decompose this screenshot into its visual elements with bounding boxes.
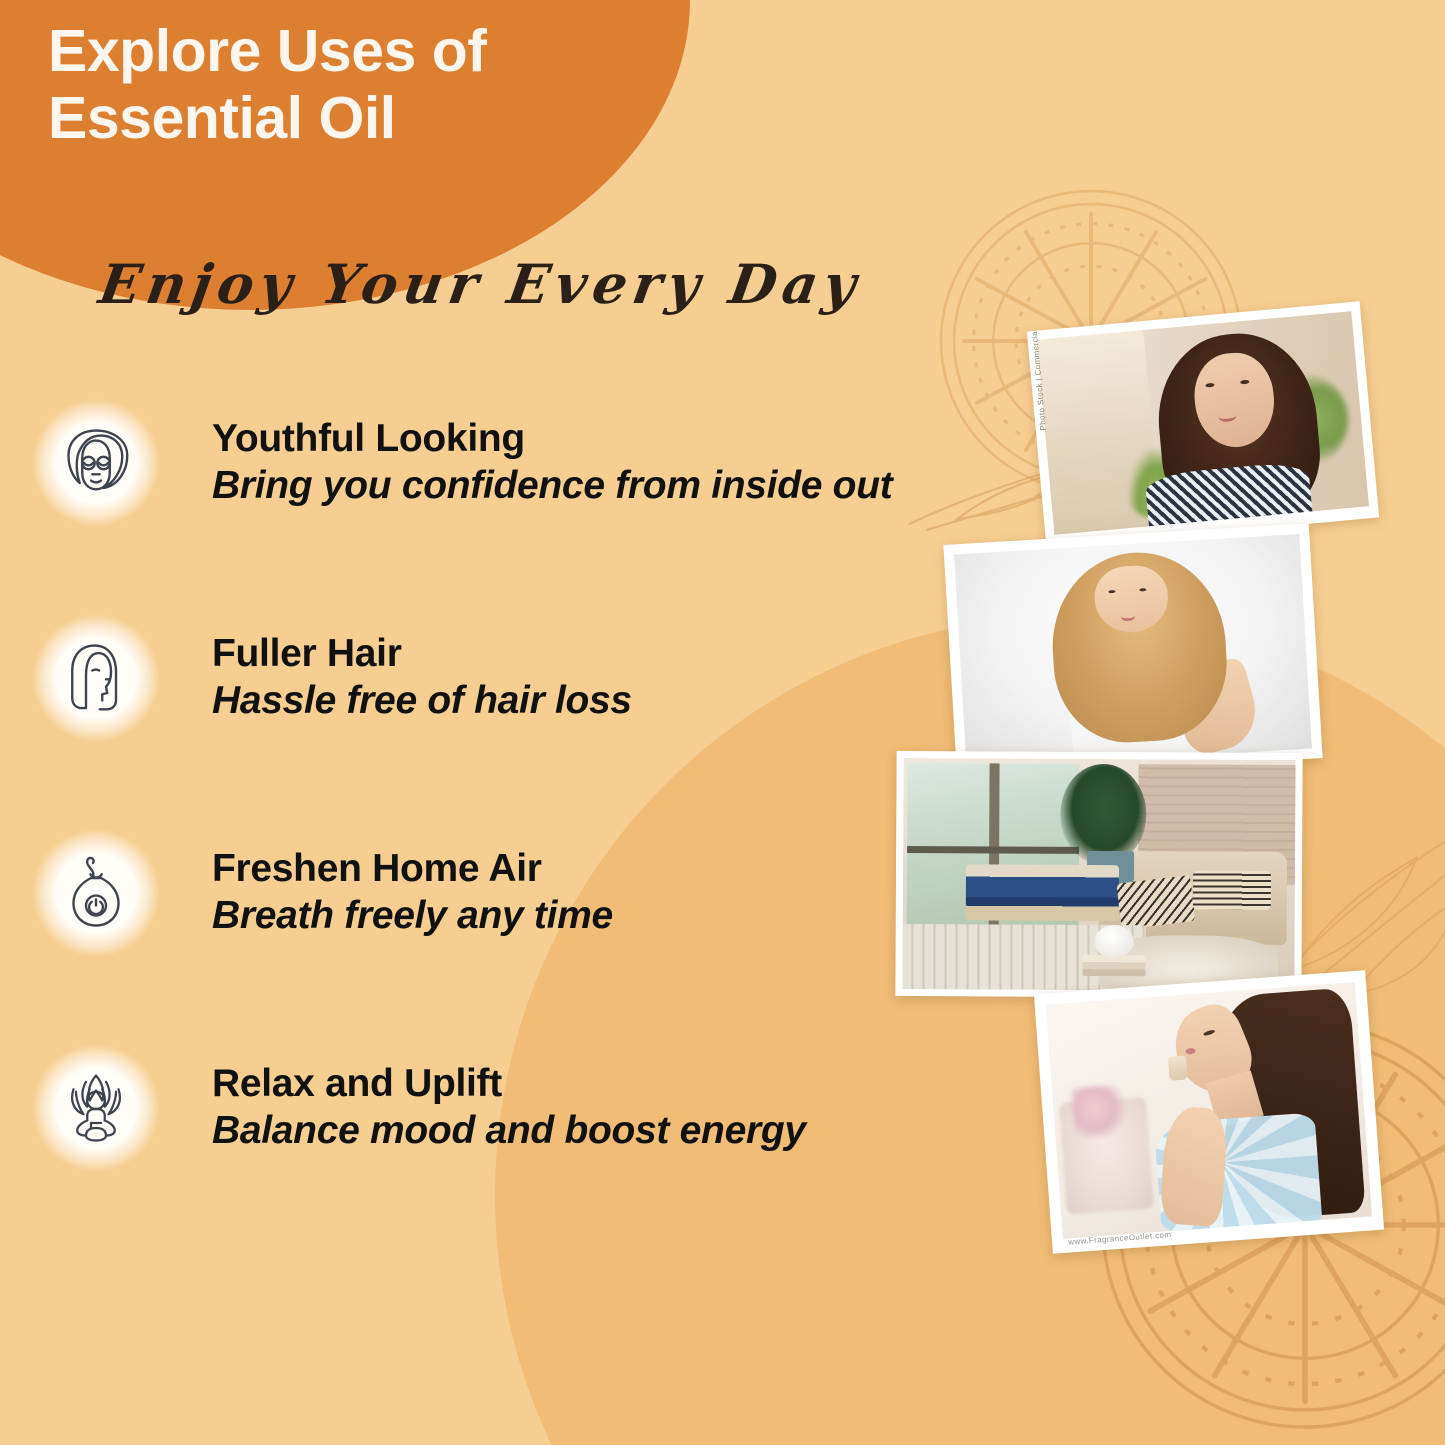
feature-row-freshen-home-air: Freshen Home Air Breath freely any time xyxy=(0,785,1040,1000)
scene-boho-living-room xyxy=(902,758,1295,991)
feature-row-youthful-looking: Youthful Looking Bring you confidence fr… xyxy=(0,355,1040,570)
feature-title: Freshen Home Air xyxy=(212,847,613,891)
scene-smiling-woman-indoors xyxy=(1037,311,1369,535)
feature-subtitle: Bring you confidence from inside out xyxy=(212,463,892,508)
page-title: Explore Uses of Essential Oil xyxy=(48,18,648,151)
feature-title: Youthful Looking xyxy=(212,417,892,461)
feature-title: Fuller Hair xyxy=(212,632,632,676)
feature-subtitle: Hassle free of hair loss xyxy=(212,678,632,723)
feature-text-fuller-hair: Fuller Hair Hassle free of hair loss xyxy=(212,632,632,723)
feature-text-relax-and-uplift: Relax and Uplift Balance mood and boost … xyxy=(212,1062,806,1153)
facial-mask-icon xyxy=(32,399,160,527)
feature-list: Youthful Looking Bring you confidence fr… xyxy=(0,355,1040,1215)
tagline-script: Enjoy Your Every Day xyxy=(95,252,866,316)
photo-image-area xyxy=(954,534,1312,769)
photo-fuller-hair xyxy=(943,523,1322,779)
photo-relax-fragrance: www.FragranceOutlet.com xyxy=(1034,970,1384,1254)
photo-image-area xyxy=(1046,982,1372,1239)
feature-subtitle: Balance mood and boost energy xyxy=(212,1108,806,1153)
poster-canvas: Explore Uses of Essential Oil Enjoy Your… xyxy=(0,0,1445,1445)
scene-blonde-wavy-hair xyxy=(954,534,1312,769)
long-hair-profile-icon xyxy=(32,614,160,742)
feature-row-fuller-hair: Fuller Hair Hassle free of hair loss xyxy=(0,570,1040,785)
photo-image-area xyxy=(902,758,1295,991)
feature-row-relax-and-uplift: Relax and Uplift Balance mood and boost … xyxy=(0,1000,1040,1215)
lotus-meditation-icon xyxy=(32,1044,160,1172)
aroma-diffuser-icon xyxy=(32,829,160,957)
scene-woman-with-fragrance xyxy=(1046,982,1372,1239)
feature-text-freshen-home-air: Freshen Home Air Breath freely any time xyxy=(212,847,613,938)
feature-title: Relax and Uplift xyxy=(212,1062,806,1106)
photo-image-area xyxy=(1037,311,1369,535)
feature-text-youthful-looking: Youthful Looking Bring you confidence fr… xyxy=(212,417,892,508)
photo-home-interior xyxy=(895,751,1302,998)
feature-subtitle: Breath freely any time xyxy=(212,893,613,938)
photo-youthful-looking: Photo Stock | Commercial xyxy=(1027,301,1379,547)
